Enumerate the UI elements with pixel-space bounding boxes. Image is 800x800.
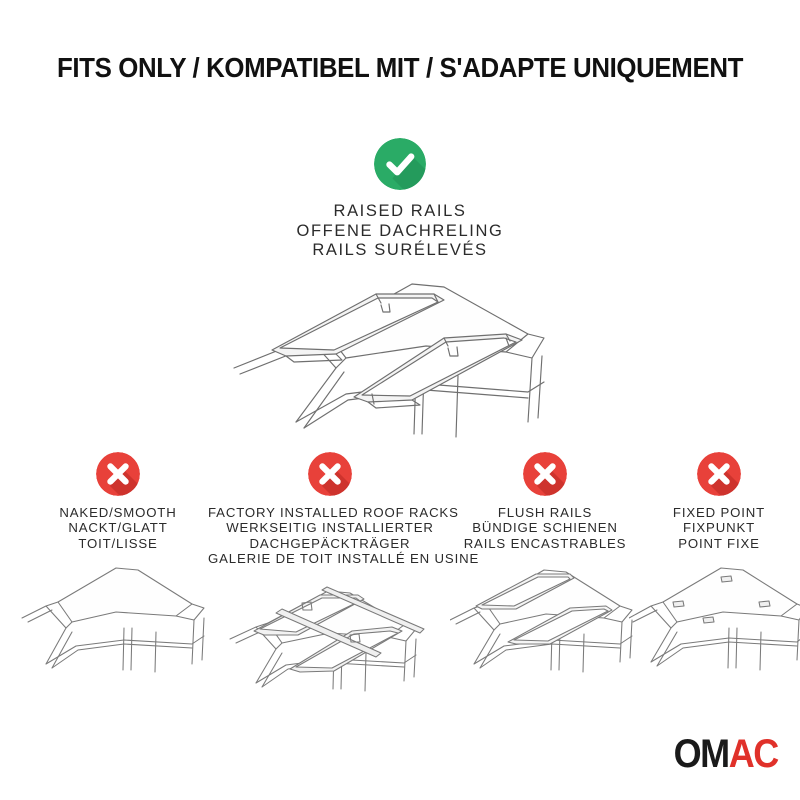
rejected-label-en: FACTORY INSTALLED ROOF RACKS — [208, 505, 452, 520]
rejected-label-de: FIXPUNKT — [638, 520, 800, 535]
rejected-label-de-2: DACHGEPÄCKTRÄGER — [208, 536, 452, 551]
approved-label-de: OFFENE DACHRELING — [0, 222, 800, 242]
x-circle-icon — [697, 452, 741, 496]
car-roof-raised-rails-illustration — [176, 272, 636, 452]
rejected-label-fr: GALERIE DE TOIT INSTALLÉ EN USINE — [208, 551, 452, 566]
omac-logo: OMAC — [674, 734, 778, 774]
car-roof-flush-rails-illustration — [450, 556, 640, 676]
rejected-option-factory-racks: FACTORY INSTALLED ROOF RACKS WERKSEITIG … — [208, 452, 452, 567]
rejected-label-de: BÜNDIGE SCHIENEN — [450, 520, 640, 535]
rejected-labels: NAKED/SMOOTH NACKT/GLATT TOIT/LISSE — [18, 505, 218, 551]
rejected-label-de: NACKT/GLATT — [18, 520, 218, 535]
approved-option: RAISED RAILS OFFENE DACHRELING RAILS SUR… — [0, 138, 800, 261]
car-roof-naked-illustration — [20, 556, 216, 676]
x-circle-icon — [308, 452, 352, 496]
rejected-labels: FACTORY INSTALLED ROOF RACKS WERKSEITIG … — [208, 505, 452, 567]
rejected-labels: FIXED POINT FIXPUNKT POINT FIXE — [638, 505, 800, 551]
car-roof-factory-racks-illustration — [224, 571, 436, 695]
rejected-label-fr: POINT FIXE — [638, 536, 800, 551]
approved-label-fr: RAILS SURÉLEVÉS — [0, 241, 800, 261]
rejected-label-fr: RAILS ENCASTRABLES — [450, 536, 640, 551]
approved-labels: RAISED RAILS OFFENE DACHRELING RAILS SUR… — [0, 202, 800, 261]
check-circle-icon — [374, 138, 426, 190]
rejected-label-en: NAKED/SMOOTH — [18, 505, 218, 520]
rejected-option-naked: NAKED/SMOOTH NACKT/GLATT TOIT/LISSE — [18, 452, 218, 551]
rejected-label-en: FIXED POINT — [638, 505, 800, 520]
logo-part-dark: OM — [674, 732, 729, 776]
approved-label-en: RAISED RAILS — [0, 202, 800, 222]
x-circle-icon — [96, 452, 140, 496]
rejected-labels: FLUSH RAILS BÜNDIGE SCHIENEN RAILS ENCAS… — [450, 505, 640, 551]
x-circle-icon — [523, 452, 567, 496]
rejected-option-flush-rails: FLUSH RAILS BÜNDIGE SCHIENEN RAILS ENCAS… — [450, 452, 640, 551]
logo-part-red: AC — [729, 732, 778, 776]
car-roof-fixed-point-illustration — [629, 556, 800, 676]
rejected-options: NAKED/SMOOTH NACKT/GLATT TOIT/LISSE — [0, 452, 800, 702]
compatibility-infographic: FITS ONLY / KOMPATIBEL MIT / S'ADAPTE UN… — [0, 0, 800, 800]
rejected-label-de-1: WERKSEITIG INSTALLIERTER — [208, 520, 452, 535]
rejected-label-en: FLUSH RAILS — [450, 505, 640, 520]
page-title: FITS ONLY / KOMPATIBEL MIT / S'ADAPTE UN… — [24, 52, 776, 84]
rejected-option-fixed-point: FIXED POINT FIXPUNKT POINT FIXE — [638, 452, 800, 551]
rejected-label-fr: TOIT/LISSE — [18, 536, 218, 551]
